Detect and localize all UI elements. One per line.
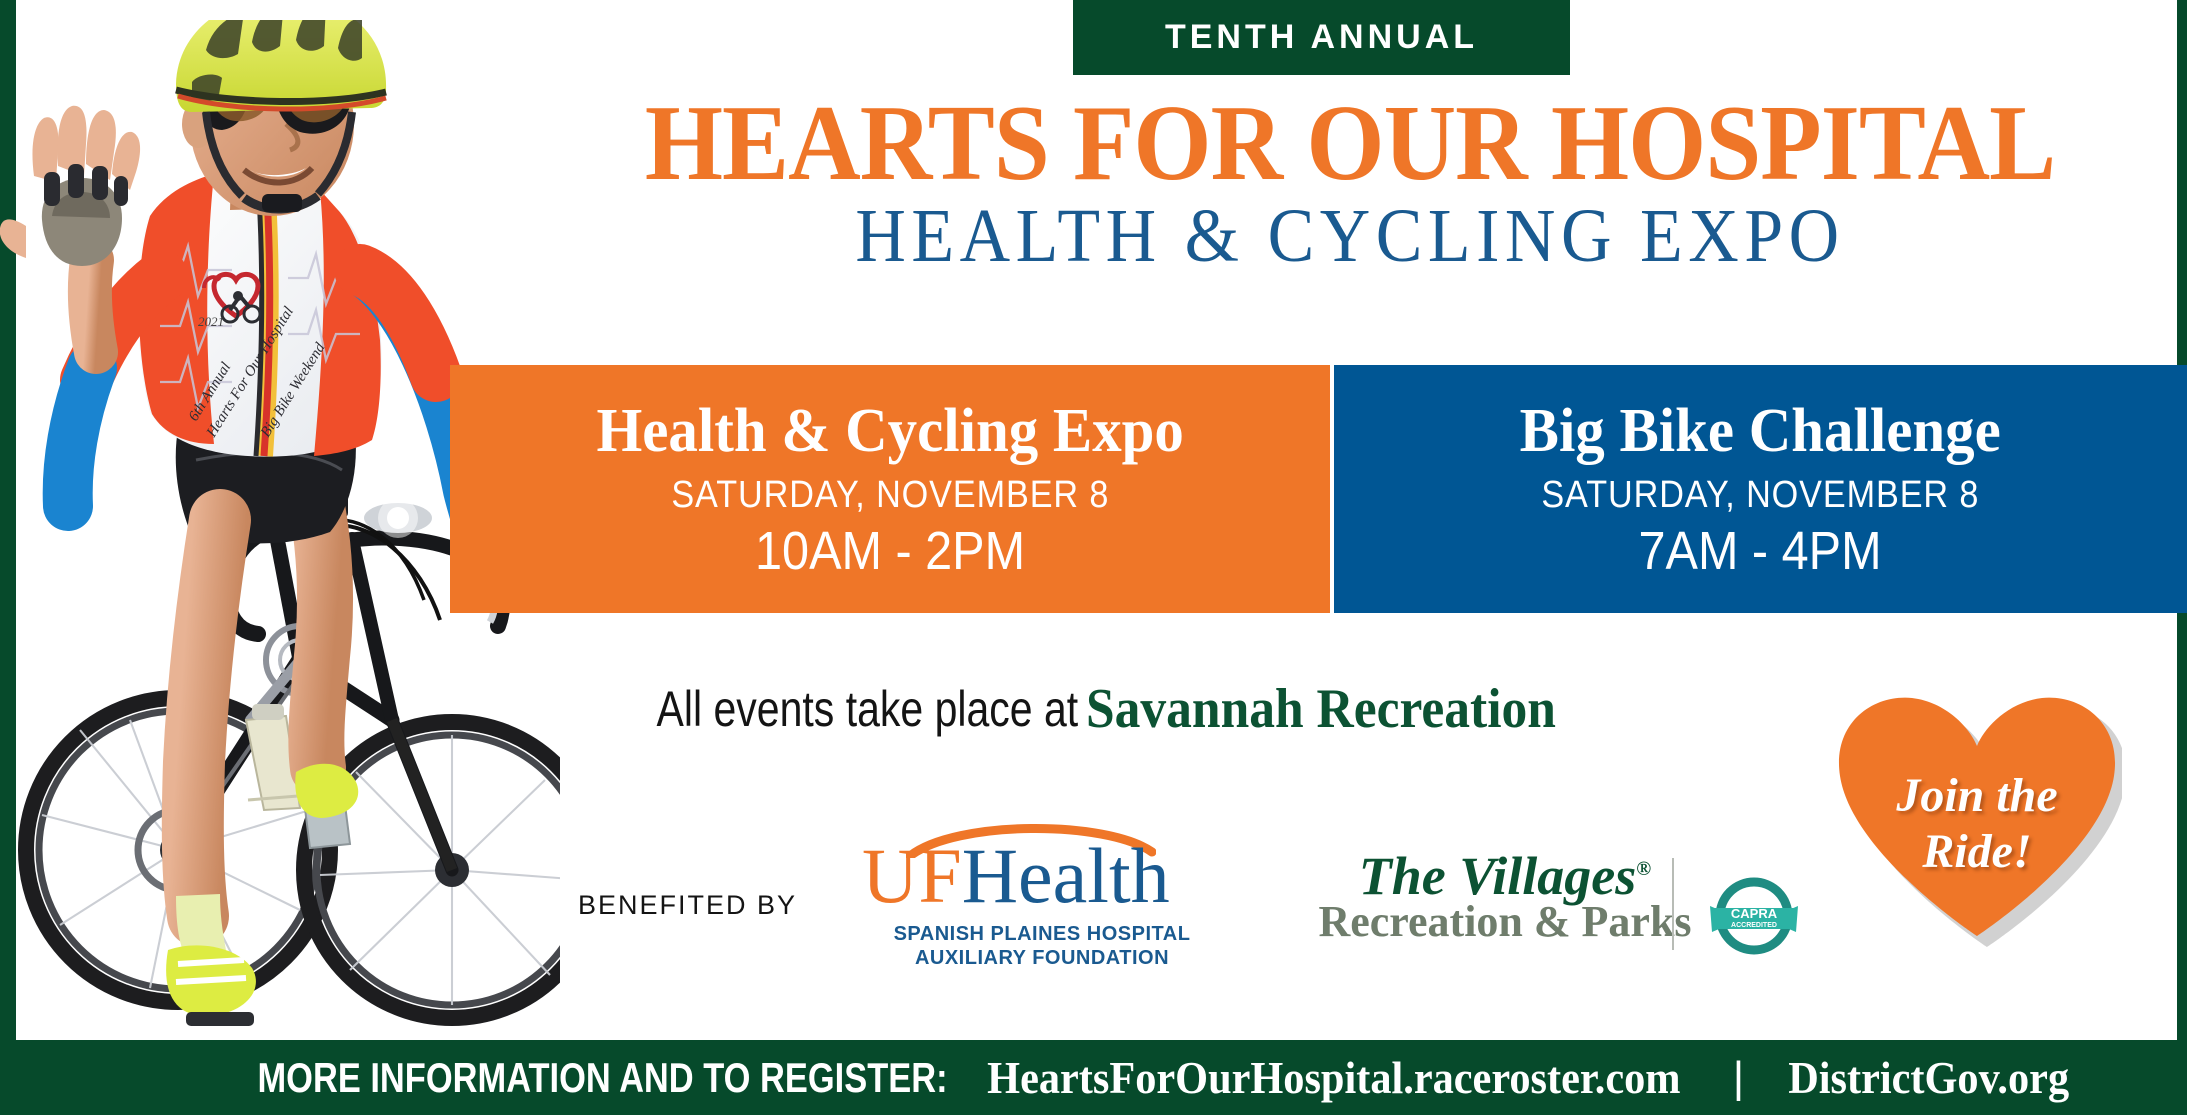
uf-sub-line2: AUXILIARY FOUNDATION <box>862 946 1222 970</box>
svg-text:CAPRA: CAPRA <box>1731 906 1778 921</box>
event-expo-time: 10AM - 2PM <box>755 522 1025 580</box>
event-promo-banner: 2021 6th Annual Hearts For Our Hospital … <box>0 0 2187 1115</box>
uf-health-logo: UFHealth SPANISH PLAINES HOSPITAL AUXILI… <box>862 818 1222 963</box>
registered-trademark-icon: ® <box>1636 858 1651 880</box>
eyebrow-tab: TENTH ANNUAL <box>1073 0 1570 75</box>
logo-divider <box>1672 858 1674 950</box>
uf-mark-suffix: Health <box>962 832 1170 919</box>
heart-badge-text: Join the Ride! <box>1832 768 2122 880</box>
join-the-ride-heart-badge: Join the Ride! <box>1832 690 2122 950</box>
uf-mark-prefix: UF <box>862 832 962 919</box>
event-card-bike-challenge: Big Bike Challenge SATURDAY, NOVEMBER 8 … <box>1334 365 2187 613</box>
page-subtitle: HEALTH & CYCLING EXPO <box>586 198 2113 274</box>
footer-bar: MORE INFORMATION AND TO REGISTER: Hearts… <box>0 1040 2187 1115</box>
event-bike-time: 7AM - 4PM <box>1639 522 1882 580</box>
uf-sub-line1: SPANISH PLAINES HOSPITAL <box>862 922 1222 946</box>
venue-name: Savannah Recreation <box>1086 677 1556 741</box>
event-expo-date: SATURDAY, NOVEMBER 8 <box>671 470 1109 520</box>
page-title: HEARTS FOR OUR HOSPITAL <box>578 96 2122 192</box>
eyebrow-label: TENTH ANNUAL <box>1165 18 1478 57</box>
event-bike-title: Big Bike Challenge <box>1520 398 2001 464</box>
footer-label: MORE INFORMATION AND TO REGISTER: <box>257 1054 947 1102</box>
heart-line2: Ride! <box>1832 824 2122 880</box>
capra-accredited-badge: CAPRA ACCREDITED <box>1706 868 1802 964</box>
benefited-by-label: BENEFITED BY <box>578 890 797 921</box>
villages-subtext: Recreation & Parks <box>1310 896 1700 948</box>
svg-text:ACCREDITED: ACCREDITED <box>1731 922 1777 929</box>
venue-line: All events take place at Savannah Recrea… <box>450 676 1710 742</box>
heart-line1: Join the <box>1832 768 2122 824</box>
event-card-expo: Health & Cycling Expo SATURDAY, NOVEMBER… <box>450 365 1330 613</box>
footer-separator: | <box>1733 1053 1744 1103</box>
svg-text:2021: 2021 <box>198 314 224 329</box>
footer-url-secondary[interactable]: DistrictGov.org <box>1788 1051 2069 1104</box>
event-expo-title: Health & Cycling Expo <box>596 398 1183 464</box>
event-bike-date: SATURDAY, NOVEMBER 8 <box>1541 470 1979 520</box>
uf-health-wordmark: UFHealth <box>862 834 1222 918</box>
uf-health-subtext: SPANISH PLAINES HOSPITAL AUXILIARY FOUND… <box>862 922 1222 970</box>
the-villages-logo: The Villages® Recreation & Parks <box>1310 838 1700 968</box>
venue-prefix: All events take place at <box>656 680 1078 738</box>
footer-url-primary[interactable]: HeartsForOurHospital.raceroster.com <box>987 1051 1680 1104</box>
